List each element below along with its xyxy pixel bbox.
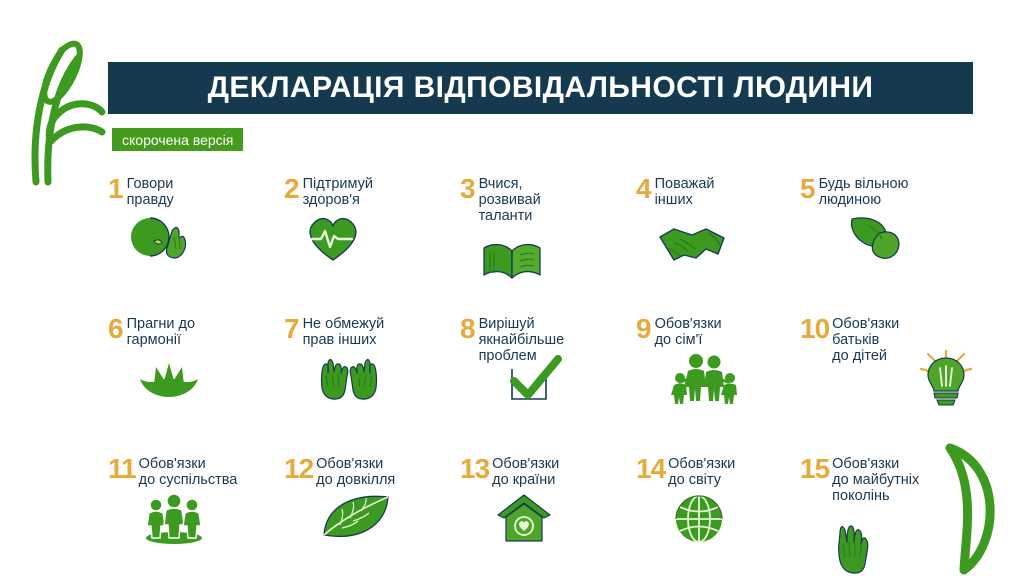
- principle-header: 2 Підтримуй здоров'я: [284, 176, 462, 209]
- principle-item[interactable]: 9 Обов'язки до сім'ї: [636, 316, 814, 450]
- principle-item[interactable]: 14 Обов'язки до світу: [636, 456, 814, 576]
- principle-item[interactable]: 2 Підтримуй здоров'я: [284, 176, 462, 310]
- title-banner: ДЕКЛАРАЦІЯ ВІДПОВІДАЛЬНОСТІ ЛЮДИНИ: [108, 62, 973, 114]
- principle-label: Обов'язки батьків до дітей: [832, 316, 899, 365]
- principle-header: 5 Будь вільною людиною: [800, 176, 978, 209]
- principle-number: 7: [284, 316, 300, 342]
- head-speaking-hand-icon: [108, 213, 286, 269]
- principle-label: Не обмежуй прав інших: [303, 316, 385, 349]
- principle-number: 9: [636, 316, 652, 342]
- principle-number: 8: [460, 316, 476, 342]
- principle-label: Обов'язки до країни: [492, 456, 559, 489]
- handshake-icon: [636, 213, 814, 269]
- dove-bird-icon: [800, 213, 978, 269]
- subtitle-label: скорочена версія: [122, 132, 233, 148]
- principle-header: 4 Поважай інших: [636, 176, 814, 209]
- principle-label: Обов'язки до суспільства: [139, 456, 238, 489]
- principle-item[interactable]: 8 Вирішуй якнайбільше проблем: [460, 316, 638, 450]
- principle-header: 14 Обов'язки до світу: [636, 456, 814, 489]
- principle-item[interactable]: 6 Прагни до гармонії: [108, 316, 286, 450]
- principles-row: 1 Говори правду 2 Підтримуй здор: [108, 176, 1008, 312]
- house-heart-icon: [460, 493, 638, 549]
- principle-item[interactable]: 1 Говори правду: [108, 176, 286, 310]
- principle-number: 3: [460, 176, 476, 202]
- principle-label: Поважай інших: [655, 176, 715, 209]
- principle-item[interactable]: 15 Обов'язки до майбутніх поколінь: [800, 456, 978, 576]
- principle-header: 1 Говори правду: [108, 176, 286, 209]
- open-book-icon: [460, 229, 638, 285]
- principle-number: 11: [108, 456, 136, 482]
- principle-header: 6 Прагни до гармонії: [108, 316, 286, 349]
- principle-header: 15 Обов'язки до майбутніх поколінь: [800, 456, 978, 505]
- principle-number: 4: [636, 176, 652, 202]
- principle-label: Вчися, розвивай таланти: [479, 176, 541, 225]
- raised-hand-icon: [830, 518, 874, 570]
- principle-label: Будь вільною людиною: [819, 176, 909, 209]
- page-title: ДЕКЛАРАЦІЯ ВІДПОВІДАЛЬНОСТІ ЛЮДИНИ: [208, 71, 874, 105]
- principle-number: 13: [460, 456, 489, 482]
- two-open-hands-icon: [284, 353, 462, 409]
- heart-pulse-icon: [284, 213, 462, 269]
- principle-number: 1: [108, 176, 124, 202]
- checkmark-box-icon: [460, 369, 638, 425]
- principle-number: 15: [800, 456, 829, 482]
- principle-item[interactable]: 7 Не обмежуй прав інших: [284, 316, 462, 450]
- family-group-icon: [636, 353, 814, 409]
- principle-label: Говори правду: [127, 176, 174, 209]
- principle-item[interactable]: 11 Обов'язки до суспільства: [108, 456, 286, 576]
- subtitle-badge: скорочена версія: [112, 128, 243, 151]
- principle-number: 5: [800, 176, 816, 202]
- principles-row: 11 Обов'язки до суспільства: [108, 456, 1008, 576]
- principle-item[interactable]: 5 Будь вільною людиною: [800, 176, 978, 310]
- principle-item[interactable]: 12 Обов'язки до довкілля: [284, 456, 462, 576]
- globe-grid-icon: [636, 493, 814, 549]
- principle-label: Обов'язки до майбутніх поколінь: [832, 456, 919, 505]
- community-people-icon: [108, 493, 286, 549]
- principles-grid: 1 Говори правду 2 Підтримуй здор: [108, 176, 1008, 576]
- principle-item[interactable]: 13 Обов'язки до країни: [460, 456, 638, 576]
- principle-header: 7 Не обмежуй прав інших: [284, 316, 462, 349]
- principle-item[interactable]: 3 Вчися, розвивай таланти: [460, 176, 638, 310]
- principle-item[interactable]: 10 Обов'язки батьків до дітей: [800, 316, 978, 450]
- principle-number: 2: [284, 176, 300, 202]
- lotus-flower-icon: [108, 353, 286, 409]
- lightbulb-idea-icon: [920, 350, 972, 406]
- principle-number: 10: [800, 316, 829, 342]
- principle-number: 14: [636, 456, 665, 482]
- plant-sprout-logo: [6, 14, 110, 186]
- principle-label: Обов'язки до світу: [668, 456, 735, 489]
- principle-header: 11 Обов'язки до суспільства: [108, 456, 286, 489]
- principle-number: 6: [108, 316, 124, 342]
- principle-label: Прагни до гармонії: [127, 316, 196, 349]
- principle-label: Обов'язки до сім'ї: [655, 316, 722, 349]
- principle-header: 3 Вчися, розвивай таланти: [460, 176, 638, 225]
- principle-item[interactable]: 4 Поважай інших: [636, 176, 814, 310]
- principle-label: Підтримуй здоров'я: [303, 176, 373, 209]
- principle-header: 13 Обов'язки до країни: [460, 456, 638, 489]
- infographic-canvas: ДЕКЛАРАЦІЯ ВІДПОВІДАЛЬНОСТІ ЛЮДИНИ скоро…: [0, 0, 1024, 576]
- principle-header: 9 Обов'язки до сім'ї: [636, 316, 814, 349]
- principle-header: 12 Обов'язки до довкілля: [284, 456, 462, 489]
- principle-label: Обов'язки до довкілля: [316, 456, 395, 489]
- principles-row: 6 Прагни до гармонії 7 Не обмежуй прав і…: [108, 316, 1008, 452]
- principle-number: 12: [284, 456, 313, 482]
- leaf-icon: [284, 493, 462, 549]
